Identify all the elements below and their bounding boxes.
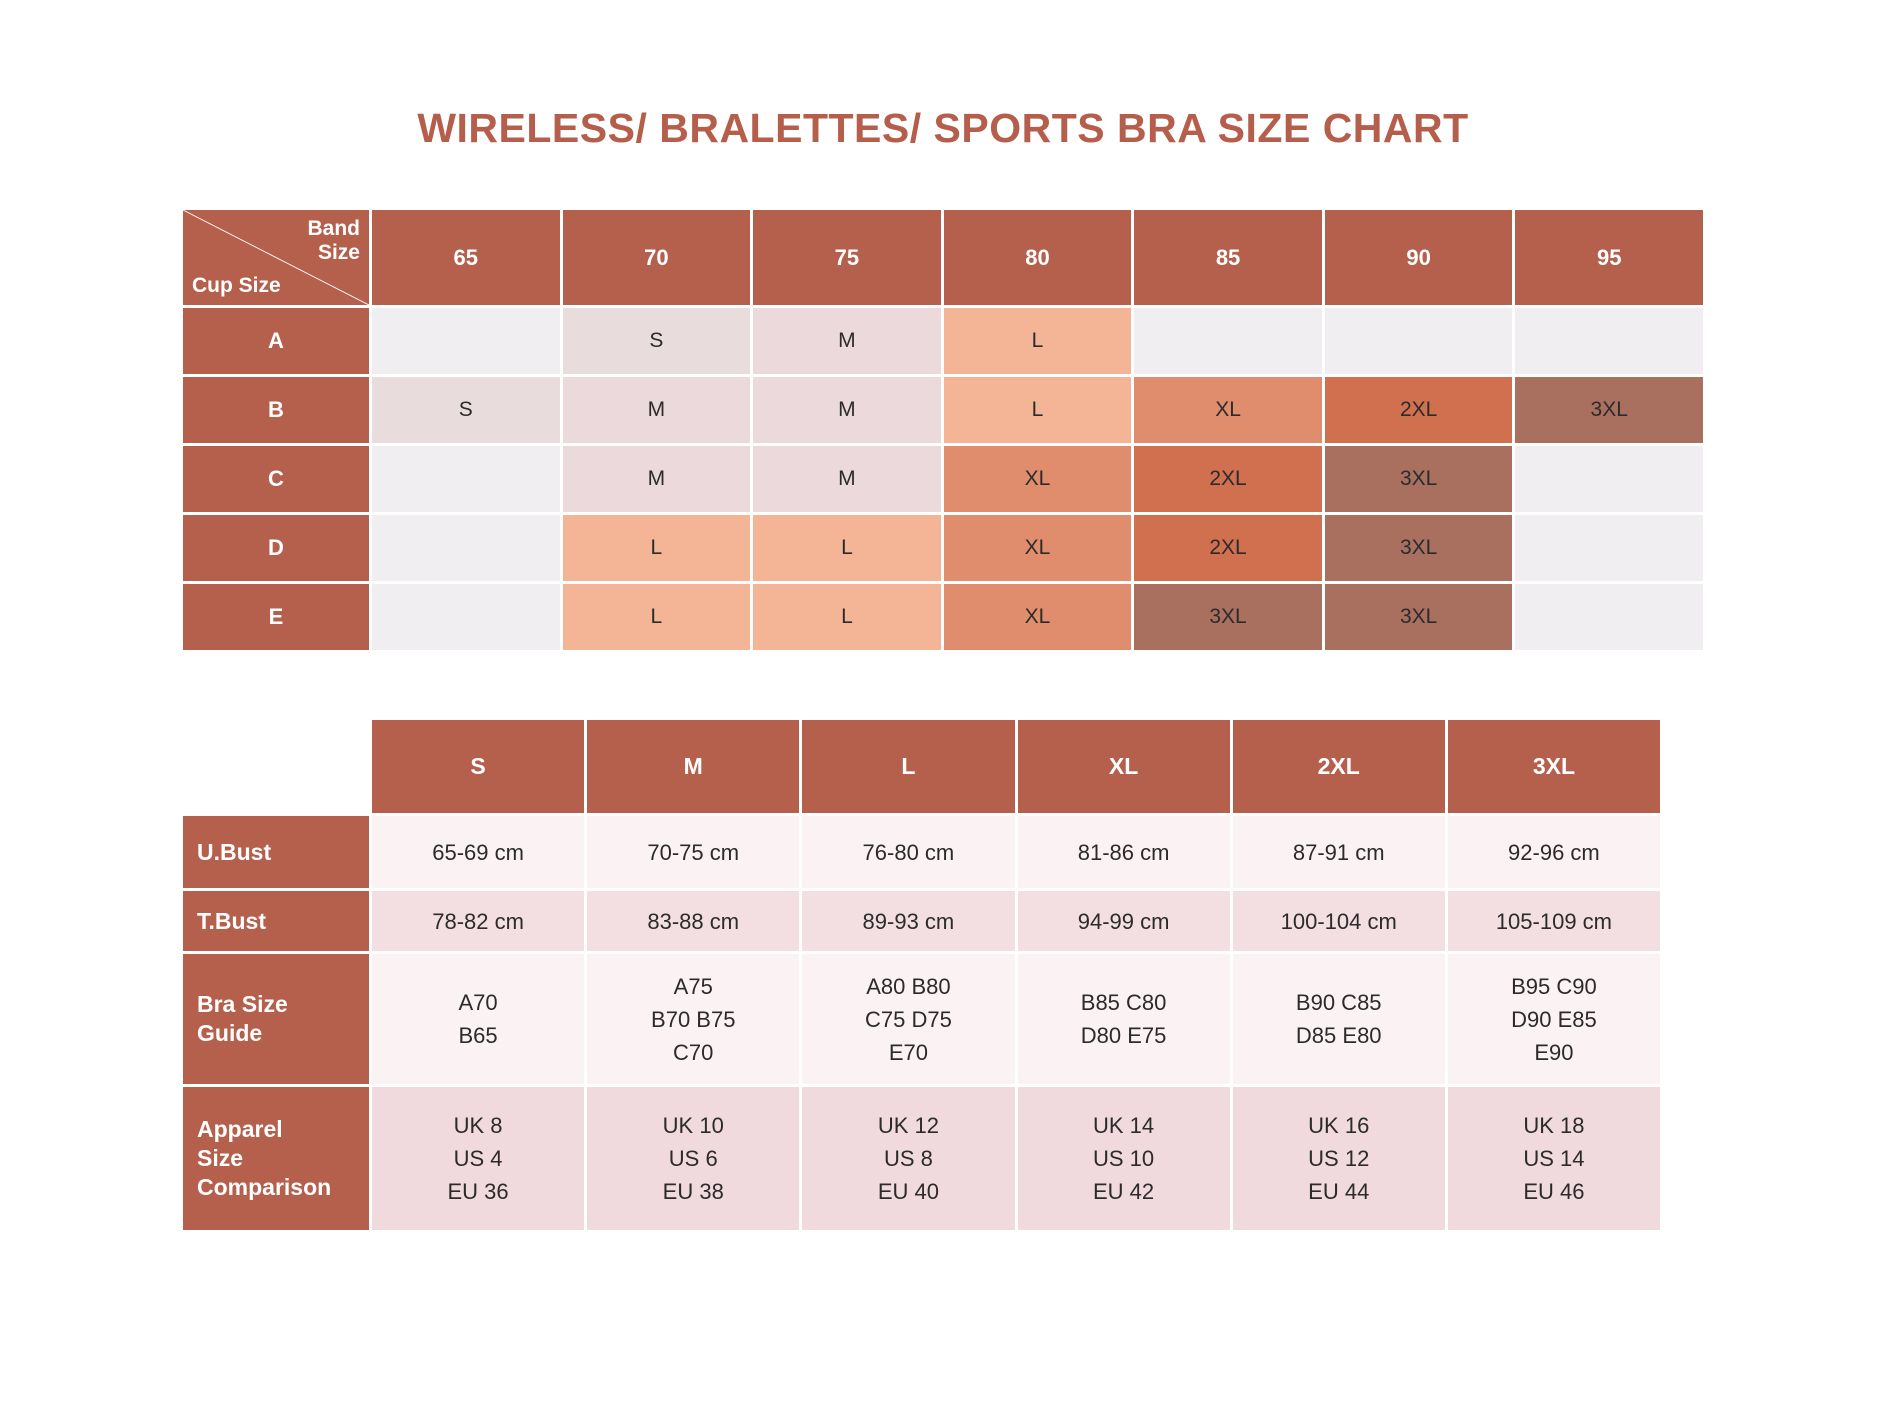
matrix-cell-empty [372, 308, 560, 374]
detail-cell-L: 76-80 cm [802, 816, 1014, 888]
band-cup-matrix-table: Band SizeCup Size65707580859095ASMLBSMML… [183, 210, 1703, 650]
detail-row-header-t-bust: T.Bust [183, 891, 369, 951]
page-title: WIRELESS/ BRALETTES/ SPORTS BRA SIZE CHA… [0, 105, 1886, 152]
matrix-cell-B75: M [753, 377, 941, 443]
matrix-cell-E85: 3XL [1134, 584, 1322, 650]
detail-cell-2XL: UK 16 US 12 EU 44 [1233, 1087, 1445, 1230]
matrix-cell-empty [1134, 308, 1322, 374]
detail-size-header-L: L [802, 720, 1014, 813]
matrix-cell-B65: S [372, 377, 560, 443]
detail-cell-M: UK 10 US 6 EU 38 [587, 1087, 799, 1230]
detail-cell-M: 83-88 cm [587, 891, 799, 951]
detail-cell-3XL: B95 C90 D90 E85 E90 [1448, 954, 1660, 1084]
detail-cell-S: A70 B65 [372, 954, 584, 1084]
matrix-cell-empty [372, 584, 560, 650]
detail-cell-L: UK 12 US 8 EU 40 [802, 1087, 1014, 1230]
detail-size-header-XL: XL [1018, 720, 1230, 813]
matrix-cell-D85: 2XL [1134, 515, 1322, 581]
matrix-cell-D80: XL [944, 515, 1132, 581]
band-size-header-85: 85 [1134, 210, 1322, 305]
matrix-cell-E80: XL [944, 584, 1132, 650]
cup-size-row-header-E: E [183, 584, 369, 650]
matrix-cell-E75: L [753, 584, 941, 650]
detail-size-header-2XL: 2XL [1233, 720, 1445, 813]
matrix-cell-E90: 3XL [1325, 584, 1513, 650]
cup-size-row-header-B: B [183, 377, 369, 443]
detail-table-corner-spacer [183, 720, 369, 813]
cup-size-label: Cup Size [192, 274, 281, 298]
size-chart-page: WIRELESS/ BRALETTES/ SPORTS BRA SIZE CHA… [0, 0, 1886, 1415]
matrix-cell-empty [1515, 308, 1703, 374]
matrix-cell-empty [1325, 308, 1513, 374]
matrix-cell-C80: XL [944, 446, 1132, 512]
detail-cell-2XL: B90 C85 D85 E80 [1233, 954, 1445, 1084]
detail-cell-2XL: 87-91 cm [1233, 816, 1445, 888]
detail-row-header-u-bust: U.Bust [183, 816, 369, 888]
matrix-corner-header: Band SizeCup Size [183, 210, 369, 305]
matrix-cell-E70: L [563, 584, 751, 650]
matrix-cell-B95: 3XL [1515, 377, 1703, 443]
detail-cell-M: 70-75 cm [587, 816, 799, 888]
matrix-cell-B85: XL [1134, 377, 1322, 443]
matrix-cell-B80: L [944, 377, 1132, 443]
detail-row-header-bra-size-guide: Bra Size Guide [183, 954, 369, 1084]
band-size-header-70: 70 [563, 210, 751, 305]
matrix-cell-empty [1515, 515, 1703, 581]
band-size-header-75: 75 [753, 210, 941, 305]
detail-cell-XL: 94-99 cm [1018, 891, 1230, 951]
detail-cell-XL: 81-86 cm [1018, 816, 1230, 888]
detail-cell-S: UK 8 US 4 EU 36 [372, 1087, 584, 1230]
matrix-cell-A70: S [563, 308, 751, 374]
matrix-cell-C90: 3XL [1325, 446, 1513, 512]
band-size-header-80: 80 [944, 210, 1132, 305]
detail-cell-L: A80 B80 C75 D75 E70 [802, 954, 1014, 1084]
detail-cell-XL: UK 14 US 10 EU 42 [1018, 1087, 1230, 1230]
detail-cell-XL: B85 C80 D80 E75 [1018, 954, 1230, 1084]
matrix-cell-D90: 3XL [1325, 515, 1513, 581]
size-detail-table: SMLXL2XL3XLU.Bust65-69 cm70-75 cm76-80 c… [183, 720, 1660, 1230]
cup-size-row-header-C: C [183, 446, 369, 512]
matrix-cell-D75: L [753, 515, 941, 581]
matrix-cell-C85: 2XL [1134, 446, 1322, 512]
detail-cell-3XL: UK 18 US 14 EU 46 [1448, 1087, 1660, 1230]
matrix-cell-B90: 2XL [1325, 377, 1513, 443]
matrix-cell-empty [1515, 446, 1703, 512]
detail-cell-L: 89-93 cm [802, 891, 1014, 951]
detail-size-header-3XL: 3XL [1448, 720, 1660, 813]
cup-size-row-header-A: A [183, 308, 369, 374]
matrix-cell-C75: M [753, 446, 941, 512]
matrix-cell-A80: L [944, 308, 1132, 374]
detail-cell-S: 78-82 cm [372, 891, 584, 951]
detail-cell-3XL: 92-96 cm [1448, 816, 1660, 888]
detail-cell-3XL: 105-109 cm [1448, 891, 1660, 951]
matrix-cell-empty [1515, 584, 1703, 650]
matrix-cell-C70: M [563, 446, 751, 512]
detail-cell-2XL: 100-104 cm [1233, 891, 1445, 951]
matrix-cell-A75: M [753, 308, 941, 374]
detail-cell-M: A75 B70 B75 C70 [587, 954, 799, 1084]
detail-row-header-apparel-size-comparison: Apparel Size Comparison [183, 1087, 369, 1230]
band-size-header-95: 95 [1515, 210, 1703, 305]
matrix-cell-empty [372, 446, 560, 512]
band-size-header-65: 65 [372, 210, 560, 305]
band-size-label: Band Size [308, 217, 361, 264]
matrix-cell-D70: L [563, 515, 751, 581]
matrix-cell-empty [372, 515, 560, 581]
detail-size-header-M: M [587, 720, 799, 813]
band-size-header-90: 90 [1325, 210, 1513, 305]
detail-cell-S: 65-69 cm [372, 816, 584, 888]
detail-size-header-S: S [372, 720, 584, 813]
cup-size-row-header-D: D [183, 515, 369, 581]
matrix-cell-B70: M [563, 377, 751, 443]
